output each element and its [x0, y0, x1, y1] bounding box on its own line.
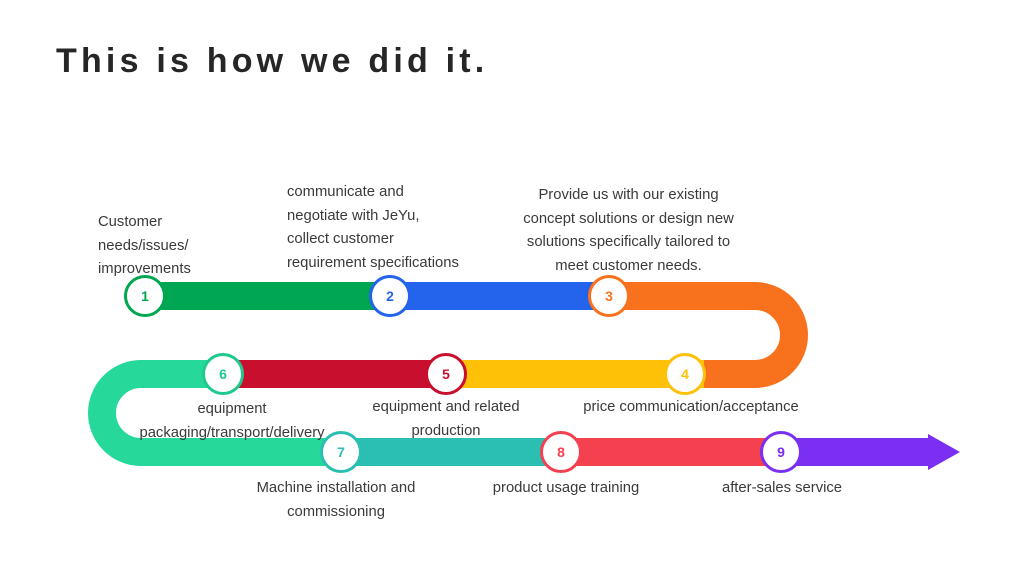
step-label-5-line-2: production	[346, 420, 546, 444]
step-label-4-line-1: price communication/acceptance	[565, 396, 817, 420]
step-node-6[interactable]: 6	[202, 353, 244, 395]
step-node-3[interactable]: 3	[588, 275, 630, 317]
step-label-9: after-sales service	[690, 477, 874, 501]
step-label-1-line-1: Customer	[98, 211, 278, 235]
step-label-3-line-4: meet customer needs.	[500, 255, 757, 279]
step-number-7: 7	[337, 445, 345, 459]
step-label-5: equipment and related production	[346, 396, 546, 443]
step-label-7-line-1: Machine installation and	[244, 477, 428, 501]
step-node-8[interactable]: 8	[540, 431, 582, 473]
step-label-1-line-2: needs/issues/	[98, 235, 278, 259]
slide-canvas: This is how we did it. 1 2 3 4 5 6	[0, 0, 1030, 574]
step-number-3: 3	[605, 289, 613, 303]
step-label-6-line-1: equipment	[130, 398, 334, 422]
step-label-6-line-2: packaging/transport/delivery	[130, 422, 334, 446]
step-label-3-line-1: Provide us with our existing	[500, 184, 757, 208]
step-label-2-line-4: requirement specifications	[287, 252, 527, 276]
step-label-3: Provide us with our existing concept sol…	[500, 184, 757, 278]
step-label-8-line-1: product usage training	[474, 477, 658, 501]
step-node-4[interactable]: 4	[664, 353, 706, 395]
step-label-8: product usage training	[474, 477, 658, 501]
step-label-6: equipment packaging/transport/delivery	[130, 398, 334, 445]
step-number-5: 5	[442, 367, 450, 381]
step-number-6: 6	[219, 367, 227, 381]
step-number-8: 8	[557, 445, 565, 459]
arrow-head-icon	[928, 434, 960, 470]
step-node-9[interactable]: 9	[760, 431, 802, 473]
step-node-5[interactable]: 5	[425, 353, 467, 395]
step-label-7-line-2: commissioning	[244, 501, 428, 525]
step-number-4: 4	[681, 367, 689, 381]
step-label-2-line-1: communicate and	[287, 181, 527, 205]
step-number-1: 1	[141, 289, 149, 303]
step-node-2[interactable]: 2	[369, 275, 411, 317]
step-label-2-line-3: collect customer	[287, 228, 527, 252]
step-label-2: communicate and negotiate with JeYu, col…	[287, 181, 527, 275]
step-number-9: 9	[777, 445, 785, 459]
step-label-3-line-3: solutions specifically tailored to	[500, 231, 757, 255]
step-label-2-line-2: negotiate with JeYu,	[287, 205, 527, 229]
step-number-2: 2	[386, 289, 394, 303]
step-label-5-line-1: equipment and related	[346, 396, 546, 420]
step-label-9-line-1: after-sales service	[690, 477, 874, 501]
step-label-7: Machine installation and commissioning	[244, 477, 428, 524]
step-label-4: price communication/acceptance	[565, 396, 817, 420]
step-label-3-line-2: concept solutions or design new	[500, 208, 757, 232]
step-label-1: Customer needs/issues/ improvements	[98, 211, 278, 282]
step-label-1-line-3: improvements	[98, 258, 278, 282]
